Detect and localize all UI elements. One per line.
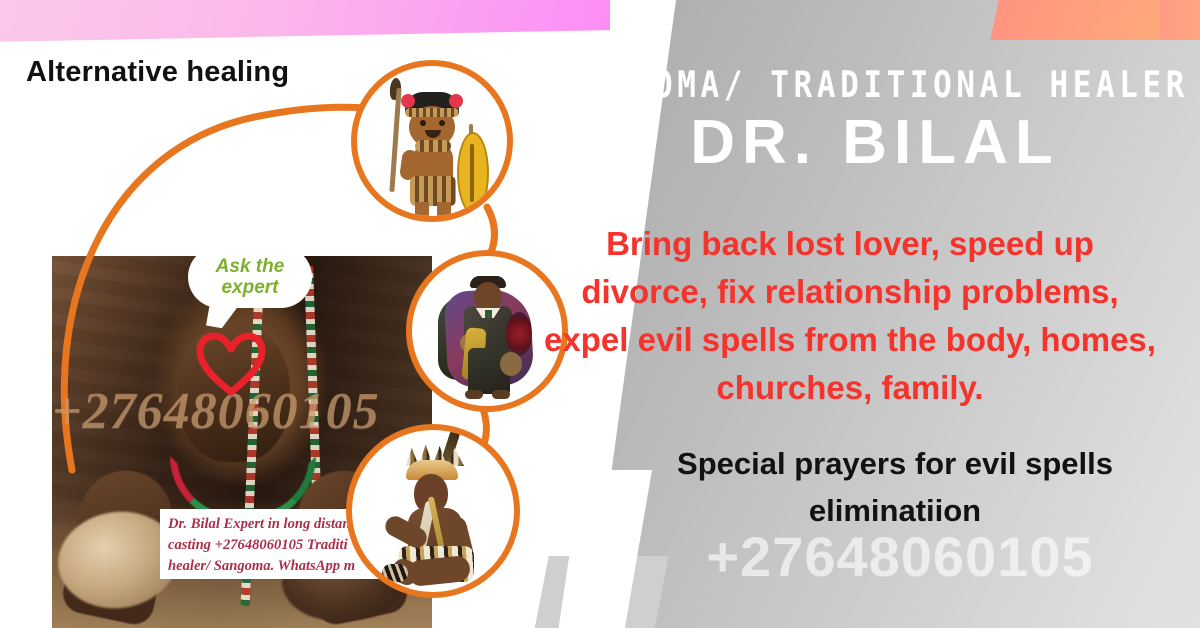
heart-outline-icon (196, 332, 266, 396)
kicker-text: SANGOMA/ TRADITIONAL HEALER (560, 64, 1190, 106)
speech-bubble: Ask the expert (188, 246, 312, 308)
circle-crouching-warrior (346, 424, 520, 598)
circle-zulu-warrior (351, 60, 513, 222)
speech-bubble-label: Ask the expert (188, 256, 312, 298)
page-title: Alternative healing (26, 56, 289, 89)
zulu-warrior-icon (357, 66, 507, 216)
services-text: Bring back lost lover, speed up divorce,… (540, 220, 1160, 412)
crouching-warrior-icon (352, 430, 514, 592)
prayers-text: Special prayers for evil spells eliminat… (590, 440, 1200, 534)
headline-text: DR. BILAL (560, 108, 1190, 178)
poster-canvas: Alternative healing Ask the expert +2764… (0, 0, 1200, 628)
pink-ribbon-decoration (0, 0, 610, 42)
orange-ribbon-corner-decoration (1160, 0, 1200, 40)
